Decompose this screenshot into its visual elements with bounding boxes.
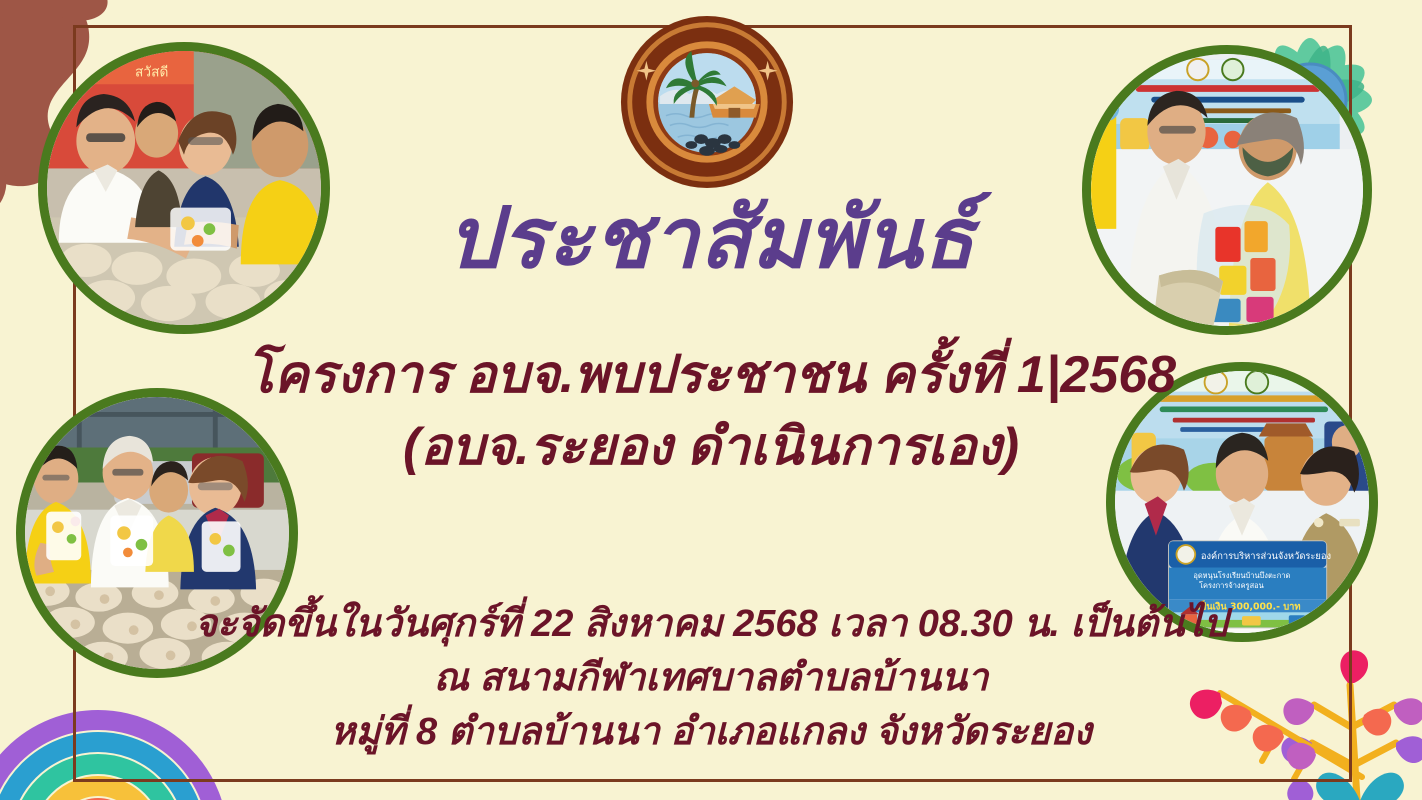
subtitle-line-1: โครงการ อบจ.พบประชาชน ครั้งที่ 1|2568: [246, 346, 1176, 404]
page-title-headline: ประชาสัมพันธ์: [0, 196, 1422, 280]
svg-text:อุดหนุนโรงเรียนบ้านบึงตะกาด: อุดหนุนโรงเรียนบ้านบึงตะกาด: [1193, 571, 1290, 580]
event-datetime-line: จะจัดขึ้นในวันศุกร์ที่ 22 สิงหาคม 2568 เ…: [0, 598, 1422, 652]
poster-canvas: สวัสดี: [0, 0, 1422, 800]
event-details: จะจัดขึ้นในวันศุกร์ที่ 22 สิงหาคม 2568 เ…: [0, 598, 1422, 760]
svg-text:องค์การบริหารส่วนจังหวัดระยอง: องค์การบริหารส่วนจังหวัดระยอง: [637, 189, 760, 190]
project-subtitle: โครงการ อบจ.พบประชาชน ครั้งที่ 1|2568 (อ…: [0, 340, 1422, 484]
event-venue-line: ณ สนามกีฬาเทศบาลตำบลบ้านนา: [0, 652, 1422, 706]
subtitle-line-2: (อบจ.ระยอง ดำเนินการเอง): [0, 412, 1422, 484]
photo-top-left: สวัสดี: [38, 42, 330, 334]
rayong-pao-seal-logo: องค์การบริหารส่วนจังหวัดระยอง: [619, 14, 795, 190]
seal-ring-text: องค์การบริหารส่วนจังหวัดระยอง: [637, 189, 760, 190]
svg-text:โครงการจ้างครูสอน: โครงการจ้างครูสอน: [1199, 581, 1264, 590]
event-address-line: หมู่ที่ 8 ตำบลบ้านนา อำเภอแกลง จังหวัดระ…: [0, 706, 1422, 760]
svg-text:สวัสดี: สวัสดี: [135, 64, 168, 80]
svg-text:องค์การบริหารส่วนจังหวัดระยอง: องค์การบริหารส่วนจังหวัดระยอง: [1201, 550, 1331, 562]
photo-top-right: [1082, 45, 1372, 335]
